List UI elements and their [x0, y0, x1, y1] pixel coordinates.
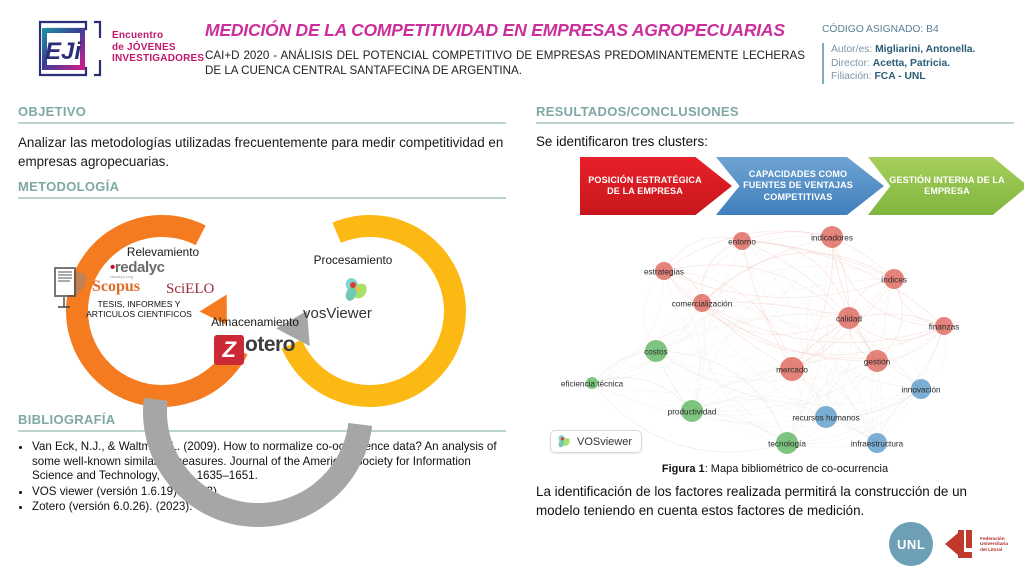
network-node-label: indicadores	[811, 233, 853, 242]
scopus-logo: Scopus	[92, 278, 140, 296]
ful-logo: Federación Universitaria del Litoral	[945, 527, 1008, 561]
network-node-label: comercialización	[672, 299, 733, 308]
director-value: Acetta, Patricia.	[873, 58, 950, 69]
network-node-label: productividad	[668, 407, 717, 416]
network-node-label: estrategias	[644, 267, 684, 276]
network-graph-canvas	[544, 221, 1006, 461]
footer-logos: UNL Federación Universitaria del Litoral	[889, 522, 1008, 566]
cluster-chevron-1: POSICIÓN ESTRATÉGICA DE LA EMPRESA	[580, 157, 732, 215]
ful-line-3: del Litoral	[980, 547, 1008, 553]
poster-title: MEDICIÓN DE LA COMPETITIVIDAD EN EMPRESA…	[205, 20, 815, 41]
cluster-chevron-2: CAPACIDADES COMO FUENTES DE VENTAJAS COM…	[716, 157, 884, 215]
author-label: Autor/es:	[831, 44, 872, 55]
poster-header: EJi Encuentro de JÓVENES INVESTIGADORES …	[0, 0, 1024, 100]
authorship-block: Autor/es: Migliarini, Antonella. Directo…	[822, 43, 1018, 84]
figure-caption: Figura 1: Mapa bibliométrico de co-ocurr…	[536, 463, 1014, 475]
network-node-label: tecnología	[768, 439, 806, 448]
network-node-label: finanzas	[929, 322, 960, 331]
metodologia-diagram: Relevamiento •redalyc redalyc.org Scopus…	[18, 205, 506, 410]
left-column: OBJETIVO Analizar las metodologías utili…	[18, 104, 506, 516]
author-row: Autor/es: Migliarini, Antonella.	[831, 43, 1018, 57]
network-node-label: infraestructura	[851, 439, 903, 448]
network-node-label: calidad	[836, 314, 862, 323]
closing-statement: La identificación de los factores realiz…	[536, 482, 1014, 520]
zotero-logo: Zotero	[214, 333, 295, 365]
network-node-label: innovación	[901, 385, 940, 394]
step-relevamiento-label: Relevamiento	[98, 245, 228, 259]
network-node-label: entorno	[728, 237, 756, 246]
svg-text:EJi: EJi	[45, 38, 82, 65]
ful-mark-icon	[945, 527, 977, 561]
metodologia-section: METODOLOGÍA Relevamiento •redalyc	[18, 179, 506, 410]
objetivo-divider	[18, 122, 506, 124]
network-node-label: costos	[644, 347, 668, 356]
zotero-wordmark: otero	[245, 333, 295, 356]
vosviewer-badge-label: VOSviewer	[577, 436, 632, 448]
eji-line-2: de JÓVENES	[112, 42, 204, 54]
scielo-logo: SciELO	[166, 281, 214, 298]
figure-caption-label: Figura 1	[662, 463, 705, 475]
resultados-divider	[536, 122, 1014, 124]
clusters-intro: Se identificaron tres clusters:	[536, 134, 1014, 149]
cluster-chevron-3: GESTIÓN INTERNA DE LA EMPRESA	[868, 157, 1024, 215]
network-node-label: gestión	[864, 357, 890, 366]
bibliometric-network-figure: entornoindicadoresestrategiasíndicescali…	[544, 221, 1006, 461]
vosviewer-badge-icon	[556, 434, 572, 449]
step-procesamiento-label: Procesamiento	[298, 253, 408, 267]
filiacion-value: FCA - UNL	[875, 71, 926, 82]
poster-subtitle: CAI+D 2020 - ANÁLISIS DEL POTENCIAL COMP…	[205, 48, 805, 78]
redalyc-logo: •redalyc redalyc.org	[110, 259, 165, 279]
eji-line-3: INVESTIGADORES	[112, 53, 204, 65]
network-node-label: recursos humanos	[792, 413, 859, 422]
metodologia-divider	[18, 197, 506, 199]
metodologia-heading: METODOLOGÍA	[18, 179, 506, 196]
network-node-label: mercado	[776, 365, 808, 374]
resultados-heading: RESULTADOS/CONCLUSIONES	[536, 104, 1014, 121]
filiacion-row: Filiación: FCA - UNL	[831, 70, 1018, 84]
ful-line-2: Universitaria	[980, 541, 1008, 547]
objetivo-section: OBJETIVO Analizar las metodologías utili…	[18, 104, 506, 171]
vosviewer-badge: VOSviewer	[550, 430, 642, 453]
network-node-label: eficiencia técnica	[561, 379, 623, 388]
ful-text: Federación Universitaria del Litoral	[980, 536, 1008, 553]
zotero-mark-icon: Z	[214, 335, 244, 365]
eji-line-1: Encuentro	[112, 30, 204, 42]
clusters-chevron-diagram: POSICIÓN ESTRATÉGICA DE LA EMPRESA CAPAC…	[580, 157, 1010, 215]
sources-text: TESIS, INFORMES Y ARTICULOS CIENTIFICOS	[80, 299, 198, 319]
objetivo-body: Analizar las metodologías utilizadas fre…	[18, 133, 506, 171]
figure-caption-text: : Mapa bibliométrico de co-ocurrencia	[705, 463, 888, 475]
vosviewer-icon	[341, 277, 371, 303]
objetivo-heading: OBJETIVO	[18, 104, 506, 121]
right-column: RESULTADOS/CONCLUSIONES Se identificaron…	[536, 104, 1014, 520]
network-node-label: índices	[881, 275, 907, 284]
eji-logo-text: Encuentro de JÓVENES INVESTIGADORES	[112, 30, 204, 65]
unl-logo: UNL	[889, 522, 933, 566]
assigned-code: CÓDIGO ASIGNADO: B4	[822, 24, 1018, 35]
poster-metadata: CÓDIGO ASIGNADO: B4 Autor/es: Migliarini…	[822, 24, 1018, 84]
director-label: Director:	[831, 58, 870, 69]
eji-logo-mark: EJi	[28, 20, 106, 78]
director-row: Director: Acetta, Patricia.	[831, 57, 1018, 71]
vosviewer-logo-label: vosViewer	[303, 305, 372, 322]
filiacion-label: Filiación:	[831, 71, 872, 82]
author-value: Migliarini, Antonella.	[875, 44, 975, 55]
eji-logo: EJi Encuentro de JÓVENES INVESTIGADORES	[28, 18, 198, 80]
step-almacenamiento-label: Almacenamiento	[190, 315, 320, 329]
